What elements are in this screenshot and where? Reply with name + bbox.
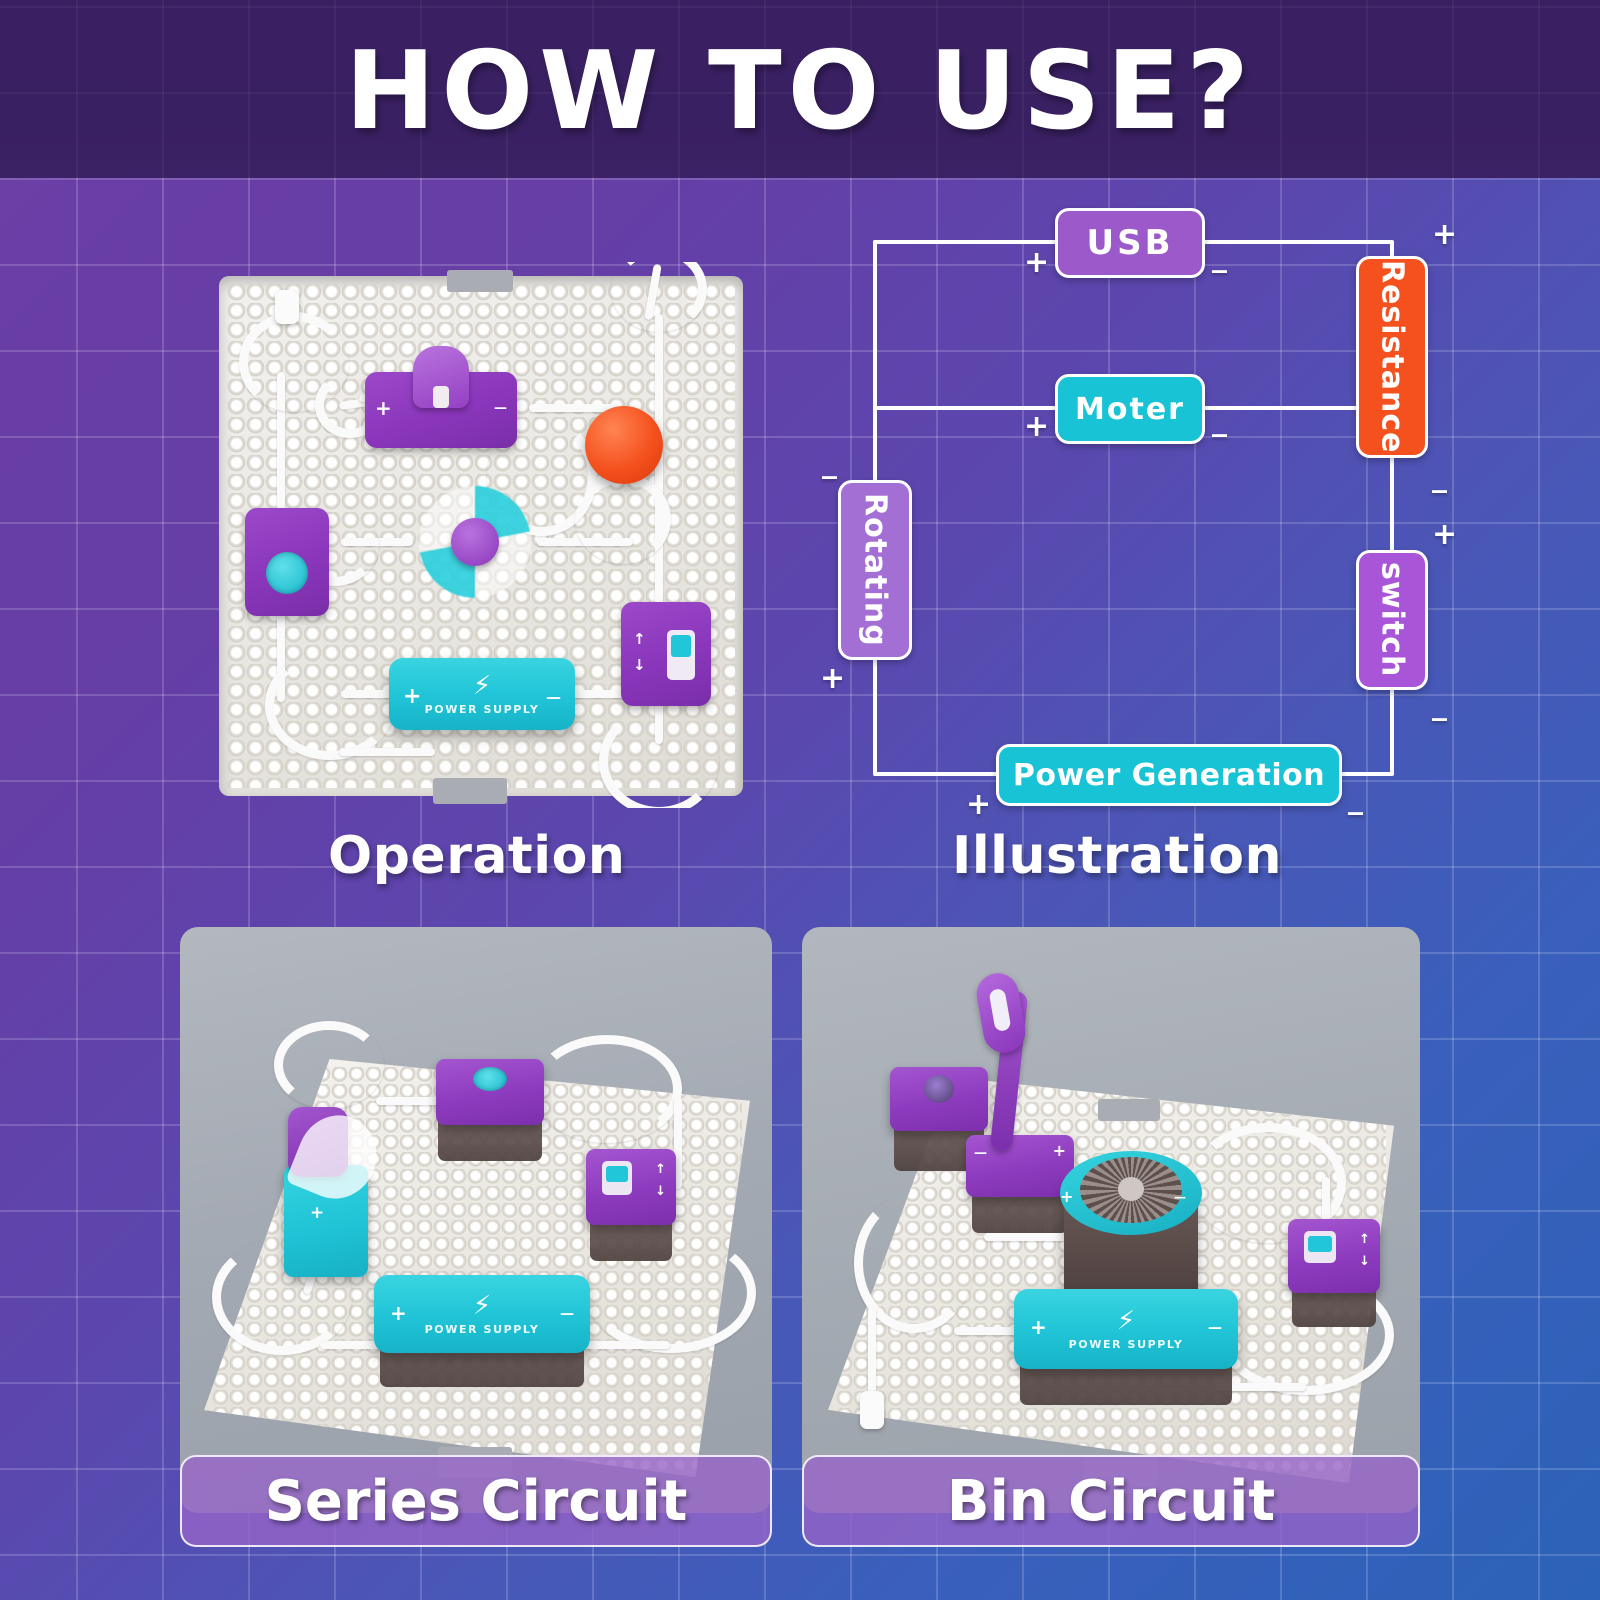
power-supply-module: + — ⚡ POWER SUPPLY — [389, 658, 575, 730]
knob-module — [245, 508, 329, 616]
bin-ps-minus: — — [1208, 1321, 1222, 1335]
bin-switch-up-arrow: ↑ — [1359, 1233, 1370, 1246]
operation-caption: Operation — [328, 826, 625, 886]
usb-plus-sign: + — [1024, 248, 1049, 278]
series-wire-loop-right — [532, 1035, 682, 1143]
series-buzzer-dial — [473, 1067, 507, 1091]
switch-module: ↑ ↓ — [621, 602, 711, 706]
bin-turbine-plus: + — [1060, 1189, 1073, 1205]
diagram-node-rotating-label: Rotating — [858, 493, 893, 647]
fan-hub — [451, 518, 499, 566]
series-switch-down-arrow: ↓ — [655, 1185, 666, 1198]
power-supply-plus: + — [403, 686, 421, 708]
bin-lamp-plus: + — [1053, 1143, 1066, 1159]
powergen-minus-sign: _ — [1348, 784, 1363, 814]
bin-circuit-caption-label: Bin Circuit — [947, 1469, 1275, 1534]
operation-baseplate: + — ↑ ↓ + — ⚡ POWER SUPPL — [219, 276, 743, 796]
diagram-node-usb-label: USB — [1086, 223, 1173, 263]
page-title: HOW TO USE? — [345, 38, 1255, 146]
usb-minus-sign: _ — [1212, 242, 1227, 272]
resistance-plus-sign: + — [1432, 220, 1457, 250]
bin-lamp-minus: — — [974, 1147, 987, 1160]
rotating-plus-sign: + — [820, 664, 845, 694]
lightning-bolt-icon: ⚡ — [473, 673, 491, 699]
switch-up-arrow: ↑ — [633, 632, 646, 647]
bin-plate-nub-top — [1098, 1099, 1160, 1121]
moter-minus-sign: _ — [1212, 406, 1227, 436]
bin-switch-toggle[interactable] — [1308, 1236, 1332, 1252]
diagram-node-switch[interactable]: switch — [1356, 550, 1428, 690]
wire-bottom-left — [339, 748, 435, 756]
joystick-slot — [433, 386, 449, 408]
series-power-supply-label: POWER SUPPLY — [425, 1323, 540, 1336]
joystick-module: + — — [365, 372, 517, 448]
bin-switch-housing — [1304, 1231, 1336, 1263]
fan-module — [405, 474, 545, 610]
bin-wire-left-stub — [868, 1307, 876, 1401]
series-fan-plus: + — [310, 1205, 324, 1222]
series-ps-plus: + — [390, 1303, 407, 1323]
plate-nub-bottom — [433, 778, 507, 804]
switch-toggle[interactable] — [671, 635, 691, 657]
bin-lightning-bolt-icon: ⚡ — [1117, 1308, 1135, 1334]
series-switch-toggle[interactable] — [606, 1166, 628, 1182]
plate-nub-top — [447, 270, 513, 292]
wire-loop-right-lower — [599, 706, 719, 808]
switch-housing — [667, 630, 695, 680]
bin-switch-down-arrow: ↓ — [1359, 1255, 1370, 1268]
series-ps-minus: — — [560, 1307, 574, 1321]
powergen-plus-sign: + — [966, 790, 991, 820]
resistance-minus-sign: _ — [1432, 462, 1447, 492]
series-switch-up-arrow: ↑ — [655, 1163, 666, 1176]
series-wire-bottom-right — [578, 1341, 670, 1349]
wire-loop-bottomleft — [265, 650, 395, 760]
series-lightning-bolt-icon: ⚡ — [473, 1293, 491, 1319]
switch-minus-sign: _ — [1432, 690, 1447, 720]
illustration-caption: Illustration — [952, 826, 1282, 886]
bin-circuit-caption: Bin Circuit — [802, 1455, 1420, 1547]
diagram-node-moter[interactable]: Moter — [1055, 374, 1205, 444]
series-circuit-photo: + ↑ ↓ + — ⚡ POWER SUPPLY — [180, 927, 772, 1513]
power-supply-label: POWER SUPPLY — [425, 703, 540, 716]
knob-dial — [266, 552, 308, 594]
diagram-node-switch-label: switch — [1375, 562, 1410, 677]
diagram-node-moter-label: Moter — [1075, 392, 1185, 427]
diagram-node-usb[interactable]: USB — [1055, 208, 1205, 278]
bin-circuit-photo: — + + — ↑ ↓ + — ⚡ POWER SUPPLY — [802, 927, 1420, 1513]
diagram-node-rotating[interactable]: Rotating — [838, 480, 912, 660]
series-circuit-caption: Series Circuit — [180, 1455, 772, 1547]
bin-sensor-module — [860, 1391, 884, 1429]
diagram-node-power-generation-label: Power Generation — [1013, 758, 1325, 793]
joystick-plus: + — [375, 398, 392, 418]
wire-orange-curve — [575, 474, 671, 564]
orange-dome-module — [585, 406, 663, 484]
joystick-minus: — — [494, 402, 507, 415]
bin-buzzer-module — [890, 1067, 988, 1131]
series-buzzer-module — [436, 1059, 544, 1125]
diagram-node-power-generation[interactable]: Power Generation — [996, 744, 1342, 806]
bin-power-supply-module: + — ⚡ POWER SUPPLY — [1014, 1289, 1238, 1369]
series-power-supply-module: + — ⚡ POWER SUPPLY — [374, 1275, 590, 1353]
rotating-minus-sign: _ — [822, 448, 837, 478]
diagram-node-resistance[interactable]: Resistance — [1356, 256, 1428, 458]
moter-plus-sign: + — [1024, 412, 1049, 442]
bin-wire-mid — [984, 1233, 1076, 1241]
series-switch-module: ↑ ↓ — [586, 1149, 676, 1225]
switch-plus-sign: + — [1432, 520, 1457, 550]
bin-turbine-hub — [1118, 1177, 1144, 1201]
bin-switch-module: ↑ ↓ — [1288, 1219, 1380, 1293]
series-switch-housing — [602, 1161, 632, 1195]
bin-turbine-minus: — — [1174, 1191, 1186, 1203]
bin-ps-plus: + — [1030, 1317, 1047, 1337]
operation-photo: + — ↑ ↓ + — ⚡ POWER SUPPL — [213, 262, 749, 808]
bin-power-supply-label: POWER SUPPLY — [1069, 1338, 1184, 1351]
switch-down-arrow: ↓ — [633, 658, 646, 673]
series-circuit-caption-label: Series Circuit — [265, 1469, 688, 1534]
series-wire-loop-left — [274, 1021, 384, 1109]
power-supply-minus: — — [546, 690, 561, 705]
illustration-diagram: USB + _ Moter + _ Resistance + _ switch … — [800, 190, 1480, 830]
wire-ps-right — [567, 690, 627, 698]
bin-lamp-module: — + — [966, 1135, 1074, 1197]
header-band: HOW TO USE? — [0, 0, 1600, 178]
diagram-node-resistance-label: Resistance — [1375, 260, 1410, 454]
sensor-module — [275, 290, 299, 324]
bin-buzzer-dome — [924, 1075, 954, 1103]
